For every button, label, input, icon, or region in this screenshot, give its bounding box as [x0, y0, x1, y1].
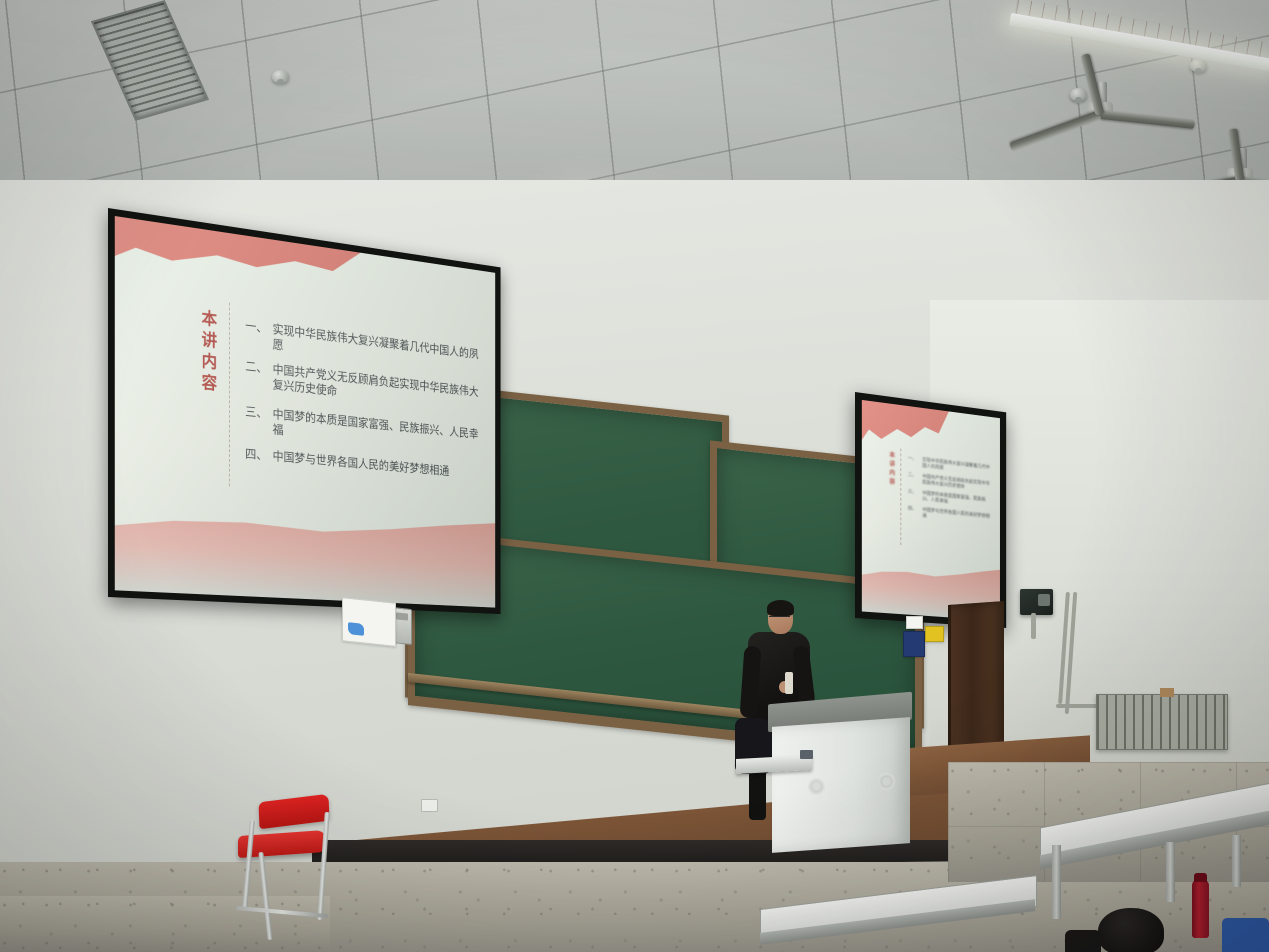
slide-bullet-num: 二、 — [245, 358, 267, 392]
slide-bullet-num: 三、 — [245, 403, 267, 437]
slide-bullet-num: 一、 — [908, 455, 917, 468]
desk-leg — [1166, 842, 1175, 902]
projector-screen-main[interactable]: 本讲内容 一、 实现中华民族伟大复兴凝聚着几代中国人的夙愿 二、 中国共产党义无… — [108, 208, 501, 614]
slide-bullet-list: 一、 实现中华民族伟大复兴凝聚着几代中国人的夙愿 二、 中国共产党义无反顾肩负起… — [908, 455, 993, 534]
slide-bullet-num: 三、 — [908, 489, 917, 502]
slide-bullet-text: 中国梦的本质是国家富强、民族振兴、人民幸福 — [922, 490, 993, 509]
student-head — [1098, 908, 1164, 952]
door-sign-white — [906, 616, 923, 629]
speaker-bracket — [1031, 613, 1036, 639]
wall-speaker — [1020, 589, 1053, 615]
slide-bullet-text: 中国梦与世界各国人民的美好梦想相通 — [273, 449, 450, 479]
slide-bullet-text: 中国共产党义无反顾肩负起实现中华民族伟大复兴历史使命 — [922, 474, 993, 494]
wall-pipe-horizontal — [1056, 704, 1100, 708]
red-thermos — [1192, 880, 1209, 938]
door-sign-blue — [903, 631, 925, 657]
slide-main: 本讲内容 一、 实现中华民族伟大复兴凝聚着几代中国人的夙愿 二、 中国共产党义无… — [115, 216, 495, 608]
smoke-detector-icon — [1190, 59, 1207, 72]
lecturer-hair — [767, 600, 794, 616]
slide-accent-top — [862, 400, 949, 450]
classroom-photo: 本讲内容 一、 实现中华民族伟大复兴凝聚着几代中国人的夙愿 二、 中国共产党义无… — [0, 0, 1269, 952]
slide-bullet-num: 二、 — [908, 472, 917, 485]
slide-bullet-4: 四、 中国梦与世界各国人民的美好梦想相通 — [908, 506, 993, 526]
desk-leg — [1052, 845, 1061, 919]
slide-vertical-title: 本讲内容 — [887, 451, 896, 488]
slide-bullet-num: 四、 — [908, 506, 917, 519]
radiator — [1096, 694, 1228, 750]
ceiling-fan-1 — [1040, 82, 1160, 142]
slide-divider — [900, 448, 901, 545]
slide-bullet-list: 一、 实现中华民族伟大复兴凝聚着几代中国人的夙愿 二、 中国共产党义无反顾肩负起… — [245, 318, 479, 490]
slide-accent-bottom — [115, 486, 495, 608]
slide-divider — [229, 303, 230, 487]
podium-vent-icon — [878, 773, 895, 790]
smoke-detector-icon — [272, 70, 289, 83]
student-clothing — [1222, 918, 1269, 952]
slide-bullet-num: 一、 — [245, 318, 267, 352]
slide-vertical-title: 本讲内容 — [196, 308, 219, 396]
notice-logo-icon — [348, 622, 364, 636]
floor-left — [0, 896, 330, 952]
podium-badge — [800, 750, 813, 759]
radiator-label — [1160, 688, 1174, 697]
slide-side: 本讲内容 一、 实现中华民族伟大复兴凝聚着几代中国人的夙愿 二、 中国共产党义无… — [862, 400, 1000, 621]
projector-screen-side[interactable]: 本讲内容 一、 实现中华民族伟大复兴凝聚着几代中国人的夙愿 二、 中国共产党义无… — [855, 392, 1006, 628]
lecturer-glasses-icon — [769, 616, 790, 622]
door-sign-yellow — [925, 626, 944, 642]
desk-leg — [1232, 835, 1241, 887]
slide-bullet-num: 四、 — [245, 446, 267, 464]
podium-vent-icon — [808, 778, 825, 795]
slide-bullet-text: 中国梦的本质是国家富强、民族振兴、人民幸福 — [273, 406, 480, 456]
slide-bullet-3: 三、 中国梦的本质是国家富强、民族振兴、人民幸福 — [245, 403, 479, 456]
power-outlet[interactable] — [421, 799, 438, 812]
lecturer-held-item — [785, 672, 793, 694]
floor-texture — [0, 896, 330, 952]
student-shoulder — [1065, 930, 1101, 952]
slide-bullet-text: 中国梦与世界各国人民的美好梦想相通 — [922, 507, 993, 526]
